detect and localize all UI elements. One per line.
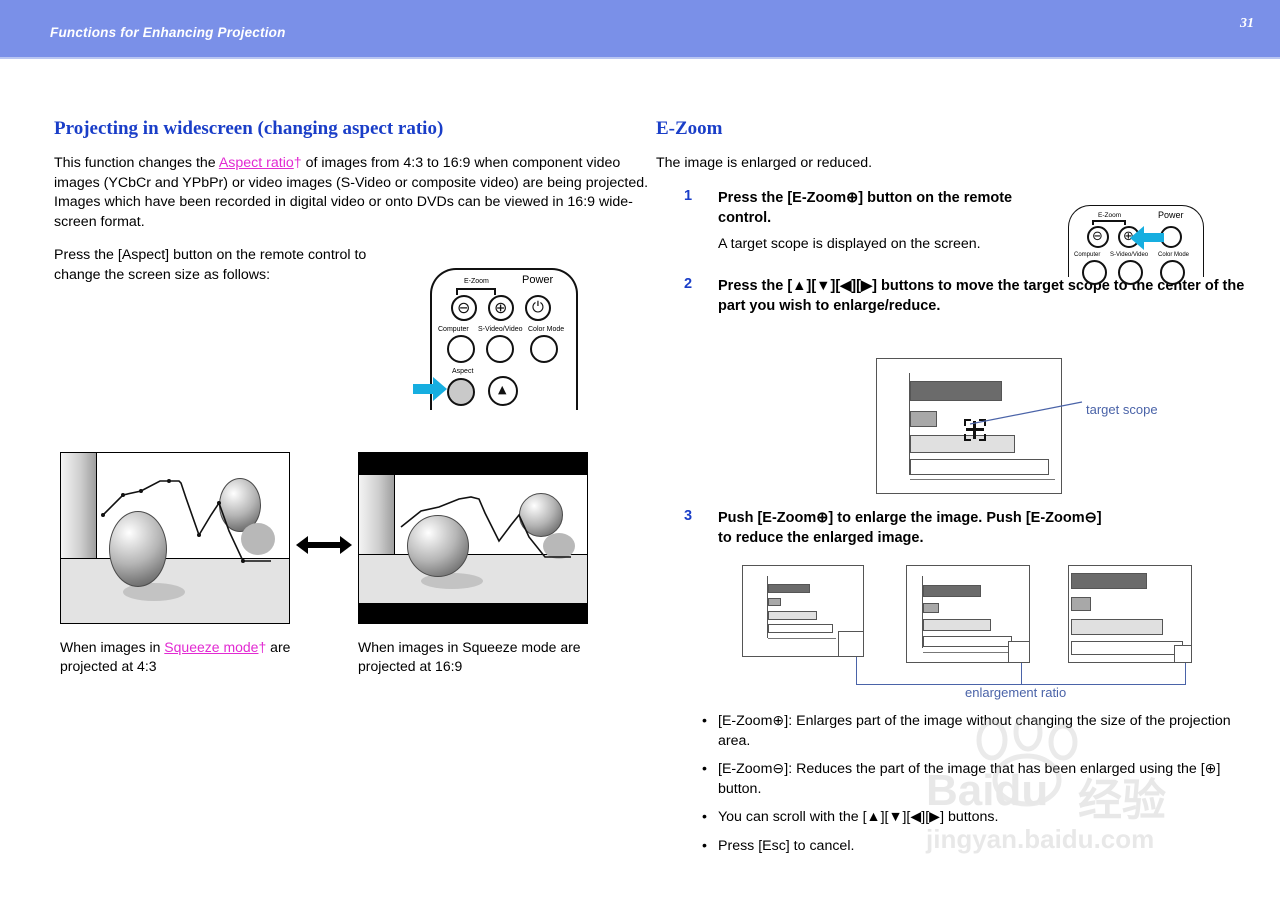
ratio-leader-3 [1185, 663, 1186, 685]
chart-bar-3 [768, 611, 817, 620]
list-item: Press [Esc] to cancel. [700, 837, 1256, 857]
step-1-number: 1 [684, 188, 692, 204]
zoom-indicator-box [1008, 641, 1030, 663]
arrow-up-icon: ▲ [498, 384, 506, 395]
chart-bar-3 [1071, 619, 1163, 635]
letterbox-bottom [359, 601, 587, 623]
minus-circle-icon: ⊖ [1092, 230, 1103, 243]
dagger-marker: † [294, 155, 302, 171]
svideo-video-button[interactable] [1118, 260, 1143, 285]
chart-bar-2 [923, 603, 939, 613]
step-1-sub: A target scope is displayed on the scree… [656, 234, 1006, 254]
caption-4-3: When images in Squeeze mode† are project… [60, 638, 310, 676]
step-3: 3 Push [E-Zoom⊕] to enlarge the image. P… [656, 508, 1256, 554]
ezoom-highlight-arrow [1130, 228, 1164, 248]
paragraph-pre: This function changes the [54, 155, 219, 171]
color-mode-label: Color Mode [1158, 252, 1189, 258]
ezoom-label: E-Zoom [464, 278, 489, 285]
chart-bar-1 [1071, 573, 1147, 589]
chart-baseline [923, 652, 1015, 653]
zoom-indicator-box [838, 631, 864, 657]
page-header: Functions for Enhancing Projection 31 [0, 0, 1280, 59]
list-item: [E-Zoom⊖]: Reduces the part of the image… [700, 760, 1256, 799]
plus-circle-icon: ⊕ [494, 300, 507, 316]
step-3-text: Push [E-Zoom⊕] to enlarge the image. Pus… [718, 508, 1118, 548]
target-scope-leader-line [970, 398, 1090, 426]
step-2-number: 2 [684, 276, 692, 292]
remote-control-diagram-small: E-Zoom Power ⊖ ⊕ Computer S-Video/Video … [1068, 205, 1208, 277]
aspect-label: Aspect [452, 368, 473, 375]
svideo-video-label: S-Video/Video [1110, 252, 1148, 258]
aspect-button[interactable] [447, 378, 475, 406]
chart-baseline [910, 479, 1055, 480]
chart-bar-1 [768, 584, 810, 593]
power-label: Power [1158, 210, 1184, 220]
aspect-ratio-glossary-link[interactable]: Aspect ratio [219, 155, 294, 171]
chart-bar-4 [768, 624, 833, 633]
scene-16-9 [359, 475, 587, 603]
aspect-ratio-paragraph: This function changes the Aspect ratio† … [54, 154, 650, 232]
chart-bar-4 [910, 459, 1049, 475]
color-mode-button[interactable] [1160, 260, 1185, 285]
panel-target-scope-view [876, 358, 1062, 494]
step-1-text: Press the [E-Zoom⊕] button on the remote… [718, 188, 1058, 228]
zigzag-line-chart [61, 453, 289, 623]
color-mode-button[interactable] [530, 335, 558, 363]
e-zoom-intro: The image is enlarged or reduced. [656, 154, 1256, 174]
chart-bar-4 [923, 636, 1012, 647]
svideo-video-button[interactable] [486, 335, 514, 363]
computer-button[interactable] [1082, 260, 1107, 285]
chart-bar-4 [1071, 641, 1183, 655]
zigzag-line-chart [359, 475, 587, 603]
list-item: [E-Zoom⊕]: Enlarges part of the image wi… [700, 712, 1256, 751]
computer-label: Computer [438, 326, 469, 333]
list-item: You can scroll with the [▲][▼][◀][▶] but… [700, 808, 1256, 828]
computer-button[interactable] [447, 335, 475, 363]
ratio-leader-1 [856, 657, 857, 685]
illustration-squeeze-4-3 [60, 452, 290, 624]
chart-bar-3 [910, 435, 1015, 453]
enlargement-ratio-label: enlargement ratio [965, 685, 1066, 700]
caption-16-9: When images in Squeeze mode are projecte… [358, 638, 588, 676]
letterbox-top [359, 453, 587, 475]
chart-bar-1 [923, 585, 981, 597]
ezoom-label: E-Zoom [1098, 212, 1121, 219]
scene-4-3 [61, 453, 289, 623]
target-scope-label: target scope [1086, 402, 1158, 417]
zoom-indicator-box [1174, 645, 1192, 663]
step-3-number: 3 [684, 508, 692, 524]
squeeze-mode-glossary-link[interactable]: Squeeze mode [164, 639, 258, 655]
chart-bar-2 [910, 411, 937, 427]
e-zoom-notes-list: [E-Zoom⊕]: Enlarges part of the image wi… [700, 712, 1256, 865]
panel-enlarge-step-3 [1068, 565, 1192, 663]
remote-control-diagram-large: E-Zoom Power ⊖ ⊕ ⏻ Computer S-Video/Vide… [430, 268, 580, 410]
color-mode-label: Color Mode [528, 326, 564, 333]
chart-bar-2 [1071, 597, 1091, 611]
conversion-double-arrow [296, 536, 352, 554]
page-number: 31 [1240, 16, 1254, 32]
chart-baseline [768, 638, 836, 639]
illustration-squeeze-16-9 [358, 452, 588, 624]
ezoom-bracket [1092, 220, 1126, 225]
ratio-leader-2 [1021, 663, 1022, 685]
ezoom-bracket [456, 288, 496, 295]
svideo-video-label: S-Video/Video [478, 326, 523, 333]
aspect-highlight-arrow [413, 377, 447, 401]
computer-label: Computer [1074, 252, 1100, 258]
power-icon: ⏻ [532, 300, 544, 315]
header-title: Functions for Enhancing Projection [50, 25, 286, 40]
minus-circle-icon: ⊖ [457, 300, 470, 316]
chart-bar-3 [923, 619, 991, 631]
panel-enlarge-step-1 [742, 565, 864, 657]
section-heading-e-zoom: E-Zoom [656, 118, 1256, 140]
chart-bar-2 [768, 598, 781, 606]
power-label: Power [522, 274, 553, 286]
caption-pre: When images in [60, 639, 164, 655]
section-heading-aspect-ratio: Projecting in widescreen (changing aspec… [54, 118, 650, 140]
aspect-button-instruction: Press the [Aspect] button on the remote … [54, 246, 414, 285]
panel-enlarge-step-2 [906, 565, 1030, 663]
